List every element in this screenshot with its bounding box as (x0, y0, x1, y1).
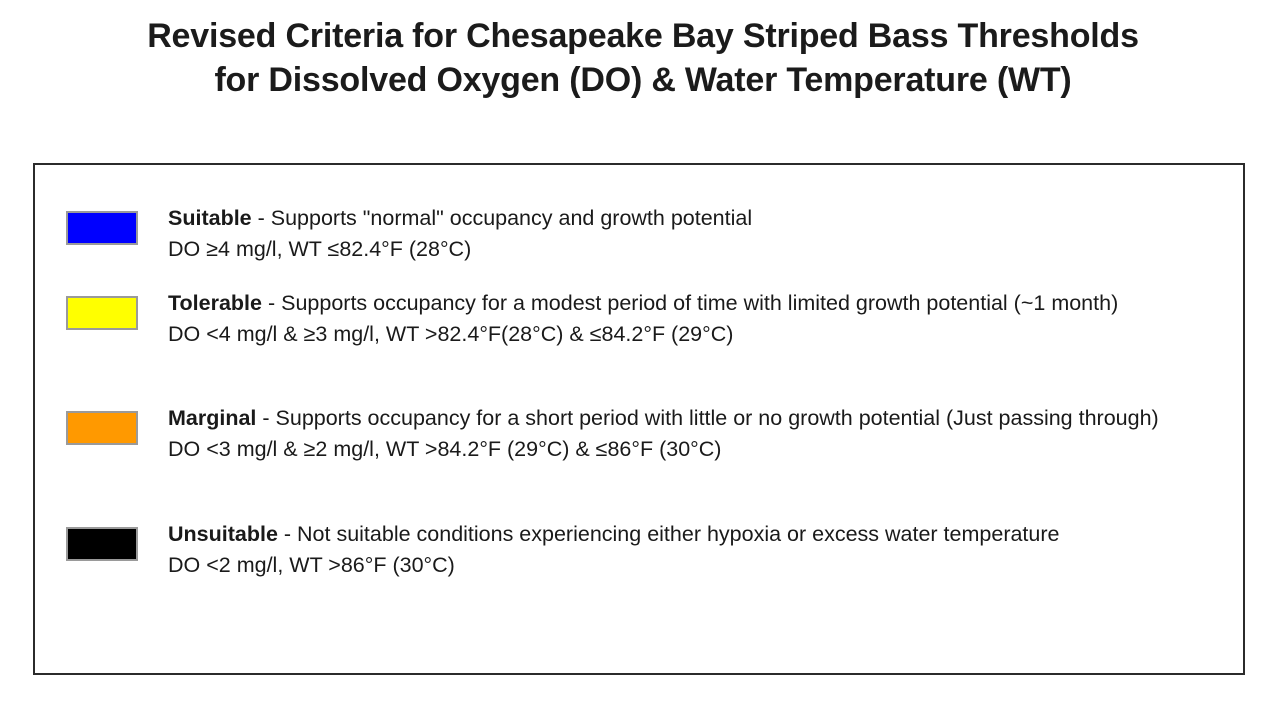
page-title-line-2: for Dissolved Oxygen (DO) & Water Temper… (0, 58, 1286, 102)
legend-separator: - (262, 291, 281, 315)
color-swatch-orange (66, 411, 138, 445)
legend-description: Supports occupancy for a short period wi… (276, 406, 1159, 430)
color-swatch-blue (66, 211, 138, 245)
legend-term: Unsuitable (168, 522, 278, 546)
page-title-line-1: Revised Criteria for Chesapeake Bay Stri… (0, 14, 1286, 58)
color-swatch-black (66, 527, 138, 561)
legend-criteria: DO <2 mg/l, WT >86°F (30°C) (168, 550, 1228, 581)
legend-criteria: DO <4 mg/l & ≥3 mg/l, WT >82.4°F(28°C) &… (168, 319, 1228, 350)
legend-panel: Suitable - Supports "normal" occupancy a… (33, 163, 1245, 675)
legend-term: Suitable (168, 206, 252, 230)
legend-term: Marginal (168, 406, 256, 430)
legend-separator: - (256, 406, 275, 430)
legend-description-line: Suitable - Supports "normal" occupancy a… (168, 203, 1228, 234)
legend-term: Tolerable (168, 291, 262, 315)
legend-description-line: Marginal - Supports occupancy for a shor… (168, 403, 1228, 434)
page-title: Revised Criteria for Chesapeake Bay Stri… (0, 14, 1286, 102)
legend-description-line: Unsuitable - Not suitable conditions exp… (168, 519, 1228, 550)
legend-description: Supports occupancy for a modest period o… (281, 291, 1118, 315)
legend-entry-text: Suitable - Supports "normal" occupancy a… (168, 203, 1228, 265)
legend-separator: - (252, 206, 271, 230)
legend-criteria: DO <3 mg/l & ≥2 mg/l, WT >84.2°F (29°C) … (168, 434, 1228, 465)
slide-root: { "title": { "line1": "Revised Criteria … (0, 0, 1286, 716)
legend-criteria: DO ≥4 mg/l, WT ≤82.4°F (28°C) (168, 234, 1228, 265)
legend-entry-text: Unsuitable - Not suitable conditions exp… (168, 519, 1228, 581)
legend-entry-text: Tolerable - Supports occupancy for a mod… (168, 288, 1228, 350)
legend-description: Not suitable conditions experiencing eit… (297, 522, 1059, 546)
legend-separator: - (278, 522, 297, 546)
color-swatch-yellow (66, 296, 138, 330)
legend-entry-text: Marginal - Supports occupancy for a shor… (168, 403, 1228, 465)
legend-description-line: Tolerable - Supports occupancy for a mod… (168, 288, 1228, 319)
legend-description: Supports "normal" occupancy and growth p… (271, 206, 752, 230)
